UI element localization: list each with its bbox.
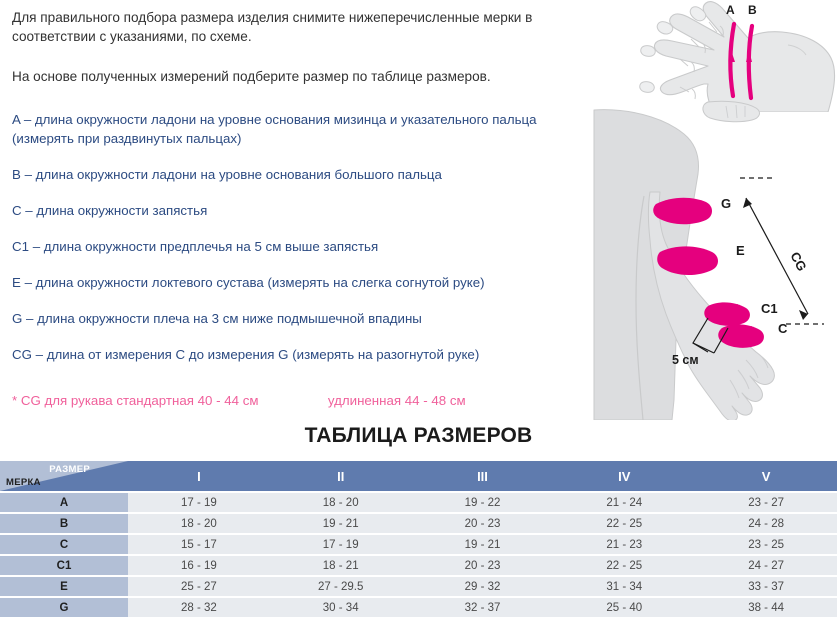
hand-tip-silhouette bbox=[703, 101, 760, 121]
cell-b-i: 18 - 20 bbox=[128, 514, 270, 533]
arm-label-e: E bbox=[736, 243, 745, 258]
hand-label-b: B bbox=[748, 3, 757, 17]
arm-measurement-diagram: CG 5 см G E C1 C bbox=[580, 100, 837, 420]
cell-c-v: 23 - 25 bbox=[695, 535, 837, 554]
cell-g-ii: 30 - 34 bbox=[270, 598, 412, 617]
row-label-e: E bbox=[0, 577, 128, 596]
intro-paragraph-1: Для правильного подбора размера изделия … bbox=[12, 8, 588, 46]
cg-dimension-arrow: CG bbox=[740, 178, 824, 324]
cell-b-iii: 20 - 23 bbox=[412, 514, 554, 533]
cell-e-ii: 27 - 29.5 bbox=[270, 577, 412, 596]
page-title: ТАБЛИЦА РАЗМЕРОВ bbox=[0, 424, 837, 448]
intro-paragraph-2: На основе полученных измерений подберите… bbox=[12, 67, 588, 86]
size-table-header-row: РАЗМЕР МЕРКА I II III IV V bbox=[0, 461, 837, 491]
cell-b-iv: 22 - 25 bbox=[553, 514, 695, 533]
column-header-v: V bbox=[695, 461, 837, 491]
sleeve-length-note: * CG для рукава стандартная 40 - 44 см у… bbox=[12, 393, 466, 408]
arm-label-g: G bbox=[721, 196, 731, 211]
column-header-ii: II bbox=[270, 461, 412, 491]
table-row: G 28 - 32 30 - 34 32 - 37 25 - 40 38 - 4… bbox=[0, 598, 837, 617]
measurement-definition-e: E – длина окружности локтевого сустава (… bbox=[12, 273, 588, 292]
measurement-definition-b: B – длина окружности ладони на уровне ос… bbox=[12, 165, 588, 184]
cell-g-iv: 25 - 40 bbox=[553, 598, 695, 617]
corner-label-size: РАЗМЕР bbox=[49, 464, 90, 475]
row-label-c1: C1 bbox=[0, 556, 128, 575]
arm-label-c: C bbox=[778, 321, 788, 336]
arm-label-cg: CG bbox=[787, 249, 809, 273]
cell-a-iii: 19 - 22 bbox=[412, 493, 554, 512]
cell-c-iii: 19 - 21 bbox=[412, 535, 554, 554]
table-corner-header: РАЗМЕР МЕРКА bbox=[0, 461, 128, 491]
hand-label-a: A bbox=[726, 3, 735, 17]
cell-a-ii: 18 - 20 bbox=[270, 493, 412, 512]
cell-c1-iv: 22 - 25 bbox=[553, 556, 695, 575]
row-label-c: C bbox=[0, 535, 128, 554]
cell-e-iv: 31 - 34 bbox=[553, 577, 695, 596]
cell-g-iii: 32 - 37 bbox=[412, 598, 554, 617]
arm-label-5cm: 5 см bbox=[672, 353, 699, 367]
description-text-column: Для правильного подбора размера изделия … bbox=[12, 8, 588, 364]
cell-c1-iii: 20 - 23 bbox=[412, 556, 554, 575]
size-table-container: РАЗМЕР МЕРКА I II III IV V A 17 - 19 18 … bbox=[0, 459, 837, 619]
sleeve-note-standard: * CG для рукава стандартная 40 - 44 см bbox=[12, 393, 259, 408]
table-row: E 25 - 27 27 - 29.5 29 - 32 31 - 34 33 -… bbox=[0, 577, 837, 596]
arm-label-c1: C1 bbox=[761, 301, 778, 316]
measurement-definition-a: A – длина окружности ладони на уровне ос… bbox=[12, 110, 588, 148]
cell-a-iv: 21 - 24 bbox=[553, 493, 695, 512]
row-label-g: G bbox=[0, 598, 128, 617]
row-label-a: A bbox=[0, 493, 128, 512]
size-table-head: РАЗМЕР МЕРКА I II III IV V bbox=[0, 461, 837, 491]
column-header-iv: IV bbox=[553, 461, 695, 491]
corner-label-measure: МЕРКА bbox=[6, 477, 41, 488]
cell-e-v: 33 - 37 bbox=[695, 577, 837, 596]
cell-a-i: 17 - 19 bbox=[128, 493, 270, 512]
cell-c-iv: 21 - 23 bbox=[553, 535, 695, 554]
measurement-definition-cg: CG – длина от измерения C до измерения G… bbox=[12, 345, 588, 364]
cell-c1-i: 16 - 19 bbox=[128, 556, 270, 575]
sleeve-note-extended: удлиненная 44 - 48 см bbox=[328, 393, 466, 408]
row-label-b: B bbox=[0, 514, 128, 533]
cell-g-v: 38 - 44 bbox=[695, 598, 837, 617]
measurement-definition-g: G – длина окружности плеча на 3 см ниже … bbox=[12, 309, 588, 328]
table-row: C1 16 - 19 18 - 21 20 - 23 22 - 25 24 - … bbox=[0, 556, 837, 575]
cell-c1-v: 24 - 27 bbox=[695, 556, 837, 575]
size-table-body: A 17 - 19 18 - 20 19 - 22 21 - 24 23 - 2… bbox=[0, 493, 837, 617]
size-table: РАЗМЕР МЕРКА I II III IV V A 17 - 19 18 … bbox=[0, 459, 837, 619]
column-header-i: I bbox=[128, 461, 270, 491]
table-row: A 17 - 19 18 - 20 19 - 22 21 - 24 23 - 2… bbox=[0, 493, 837, 512]
cell-a-v: 23 - 27 bbox=[695, 493, 837, 512]
hand-measurement-diagram: A B bbox=[596, 0, 837, 112]
diagram-and-description-area: Для правильного подбора размера изделия … bbox=[0, 0, 837, 418]
measurement-definition-c1: C1 – длина окружности предплечья на 5 см… bbox=[12, 237, 588, 256]
cell-g-i: 28 - 32 bbox=[128, 598, 270, 617]
hand-silhouette bbox=[640, 2, 835, 112]
cell-e-i: 25 - 27 bbox=[128, 577, 270, 596]
cell-e-iii: 29 - 32 bbox=[412, 577, 554, 596]
cell-c-ii: 17 - 19 bbox=[270, 535, 412, 554]
table-row: B 18 - 20 19 - 21 20 - 23 22 - 25 24 - 2… bbox=[0, 514, 837, 533]
cell-b-v: 24 - 28 bbox=[695, 514, 837, 533]
cell-c1-ii: 18 - 21 bbox=[270, 556, 412, 575]
cell-b-ii: 19 - 21 bbox=[270, 514, 412, 533]
measurement-definition-c: C – длина окружности запястья bbox=[12, 201, 588, 220]
cell-c-i: 15 - 17 bbox=[128, 535, 270, 554]
table-row: C 15 - 17 17 - 19 19 - 21 21 - 23 23 - 2… bbox=[0, 535, 837, 554]
measurement-definitions-list: A – длина окружности ладони на уровне ос… bbox=[12, 110, 588, 364]
column-header-iii: III bbox=[412, 461, 554, 491]
